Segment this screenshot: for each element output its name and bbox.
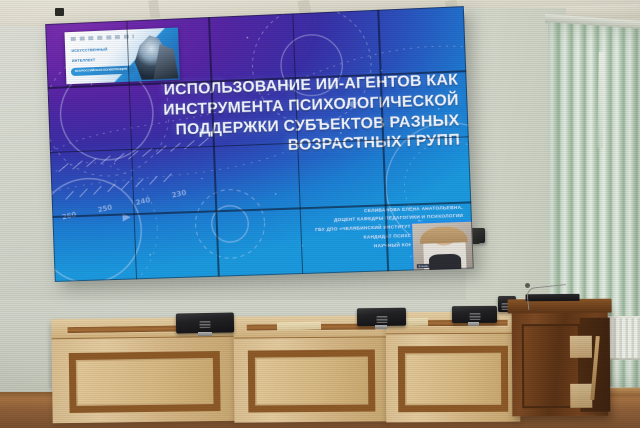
video-wall-frame xyxy=(45,6,474,282)
microphone-icon xyxy=(525,283,530,288)
desk-monitor[interactable] xyxy=(176,312,234,333)
podium-plate xyxy=(570,336,592,358)
desk-papers xyxy=(277,322,321,331)
microphone-arm xyxy=(526,284,568,310)
desk-monitor[interactable] xyxy=(357,308,406,327)
wall-camera-icon xyxy=(55,8,64,16)
conference-desk xyxy=(234,315,390,422)
monitor-stand xyxy=(468,322,479,326)
monitor-stand xyxy=(375,325,387,329)
desk-front-panel xyxy=(68,351,221,413)
podium-plate xyxy=(570,384,592,408)
monitor-stand xyxy=(198,332,212,336)
video-wall-display[interactable]: 260 250 240 230 xyxy=(45,6,474,282)
conference-hall-scene: 260 250 240 230 xyxy=(0,0,640,428)
desk-front-panel xyxy=(248,349,376,412)
desk-front-panel xyxy=(398,346,508,413)
desk-monitor[interactable] xyxy=(452,306,497,323)
conference-desk xyxy=(386,312,521,423)
